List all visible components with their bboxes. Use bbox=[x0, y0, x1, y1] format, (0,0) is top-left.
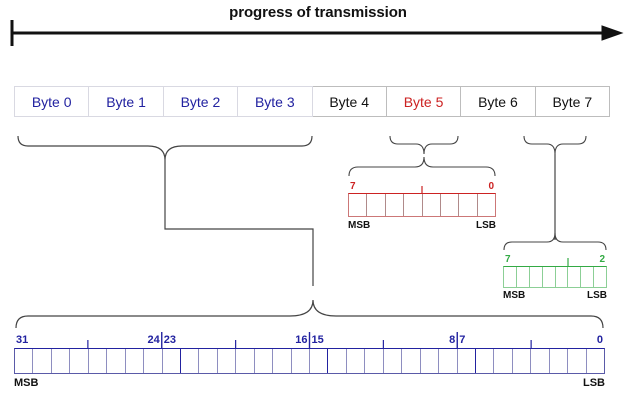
bit-cell bbox=[384, 349, 402, 373]
word-bit-number: 24 bbox=[148, 332, 160, 348]
red-endian-labels: MSB LSB bbox=[348, 220, 496, 234]
bit-cell bbox=[255, 349, 273, 373]
bit-cell bbox=[181, 349, 199, 373]
red-bit-numbers: 7 0 bbox=[348, 180, 496, 193]
bit-cell bbox=[402, 349, 420, 373]
bit-cell bbox=[236, 349, 254, 373]
bit-cell bbox=[292, 349, 310, 373]
red-bit-field: 7 0 MSB LSB bbox=[348, 180, 496, 234]
bit-cell bbox=[126, 349, 144, 373]
bit-cell bbox=[404, 194, 422, 216]
word-bit-number: 7 bbox=[459, 332, 465, 348]
green-bit-number-right: 2 bbox=[599, 253, 605, 266]
diagram-canvas: progress of transmission Byte 0 Byte 1 B… bbox=[0, 0, 636, 404]
bit-cell bbox=[199, 349, 217, 373]
byte-cell-label: Byte 7 bbox=[552, 94, 592, 110]
bit-cell bbox=[568, 267, 581, 287]
bit-cell bbox=[163, 349, 181, 373]
word-msb-label: MSB bbox=[14, 377, 38, 389]
red-bit-number-right: 0 bbox=[488, 180, 494, 193]
word-bit-number: 0 bbox=[597, 332, 603, 348]
green-endian-labels: MSB LSB bbox=[503, 290, 607, 304]
green-msb-label: MSB bbox=[503, 290, 525, 301]
byte-cell-1[interactable]: Byte 1 bbox=[89, 86, 163, 117]
byte-cell-7[interactable]: Byte 7 bbox=[536, 86, 610, 117]
word-bit-number: 16 bbox=[295, 332, 307, 348]
bit-cell bbox=[386, 194, 404, 216]
bit-cell bbox=[513, 349, 531, 373]
bit-cell bbox=[530, 267, 543, 287]
bit-cell bbox=[328, 349, 346, 373]
green-bit-cells bbox=[503, 266, 607, 288]
green-bit-number-left: 7 bbox=[505, 253, 511, 266]
bit-cell bbox=[89, 349, 107, 373]
byte-cell-label: Byte 6 bbox=[478, 94, 518, 110]
bit-cell bbox=[581, 267, 594, 287]
bit-cell bbox=[15, 349, 33, 373]
brace-bytes0-3 bbox=[18, 136, 312, 160]
byte-cell-label: Byte 4 bbox=[329, 94, 369, 110]
byte-cell-0[interactable]: Byte 0 bbox=[14, 86, 89, 117]
bit-cell bbox=[594, 267, 606, 287]
bit-cell bbox=[310, 349, 328, 373]
green-bit-field: 7 2 MSB LSB bbox=[503, 253, 607, 304]
green-lsb-label: LSB bbox=[587, 290, 607, 301]
word-bit-numbers: 3124231615870 bbox=[14, 332, 605, 348]
bit-cell bbox=[504, 267, 517, 287]
brace-byte7 bbox=[524, 136, 586, 154]
bit-cell bbox=[459, 194, 477, 216]
brace-word-field bbox=[16, 300, 603, 328]
word-endian-labels: MSB LSB bbox=[14, 377, 605, 391]
bit-cell bbox=[441, 194, 459, 216]
red-lsb-label: LSB bbox=[476, 220, 496, 231]
word-bit-field: 3124231615870 MSB LSB bbox=[14, 332, 605, 391]
bit-cell bbox=[517, 267, 530, 287]
red-msb-label: MSB bbox=[348, 220, 370, 231]
bit-cell bbox=[423, 194, 441, 216]
byte-cell-label: Byte 1 bbox=[106, 94, 146, 110]
bit-cell bbox=[367, 194, 385, 216]
word-bit-number: 15 bbox=[312, 332, 324, 348]
byte-cell-label: Byte 3 bbox=[255, 94, 295, 110]
bit-cell bbox=[556, 267, 569, 287]
bit-cell bbox=[478, 194, 495, 216]
brace-red-field bbox=[349, 157, 495, 176]
byte-sequence: Byte 0 Byte 1 Byte 2 Byte 3 Byte 4 Byte … bbox=[14, 86, 610, 117]
word-bit-number: 8 bbox=[449, 332, 455, 348]
red-bit-cells bbox=[348, 193, 496, 217]
byte-cell-6[interactable]: Byte 6 bbox=[461, 86, 535, 117]
bit-cell bbox=[458, 349, 476, 373]
byte-cell-3[interactable]: Byte 3 bbox=[238, 86, 312, 117]
byte-cell-label: Byte 0 bbox=[32, 94, 72, 110]
byte-cell-label: Byte 2 bbox=[181, 94, 221, 110]
bit-cell bbox=[273, 349, 291, 373]
byte-cell-label: Byte 5 bbox=[404, 94, 444, 110]
bit-cell bbox=[347, 349, 365, 373]
bit-cell bbox=[568, 349, 586, 373]
bit-cell bbox=[33, 349, 51, 373]
connector-bytes-to-word bbox=[165, 160, 313, 286]
bit-cell bbox=[476, 349, 494, 373]
byte-cell-2[interactable]: Byte 2 bbox=[164, 86, 238, 117]
bit-cell bbox=[144, 349, 162, 373]
bit-cell bbox=[587, 349, 604, 373]
byte-cell-5[interactable]: Byte 5 bbox=[387, 86, 461, 117]
bit-cell bbox=[349, 194, 367, 216]
bit-cell bbox=[421, 349, 439, 373]
green-bit-numbers: 7 2 bbox=[503, 253, 607, 266]
bit-cell bbox=[218, 349, 236, 373]
bit-cell bbox=[494, 349, 512, 373]
bit-cell bbox=[439, 349, 457, 373]
bit-cell bbox=[365, 349, 383, 373]
bit-cell bbox=[52, 349, 70, 373]
word-lsb-label: LSB bbox=[583, 377, 605, 389]
progress-arrow bbox=[12, 20, 622, 46]
byte-cell-4[interactable]: Byte 4 bbox=[313, 86, 387, 117]
bit-cell bbox=[531, 349, 549, 373]
brace-green-field bbox=[504, 233, 606, 250]
word-bit-number: 31 bbox=[16, 332, 28, 348]
bit-cell bbox=[70, 349, 88, 373]
brace-byte5 bbox=[390, 136, 458, 154]
red-bit-number-left: 7 bbox=[350, 180, 356, 193]
word-bit-cells bbox=[14, 348, 605, 374]
bit-cell bbox=[107, 349, 125, 373]
bit-cell bbox=[543, 267, 556, 287]
bit-cell bbox=[550, 349, 568, 373]
word-bit-number: 23 bbox=[164, 332, 176, 348]
